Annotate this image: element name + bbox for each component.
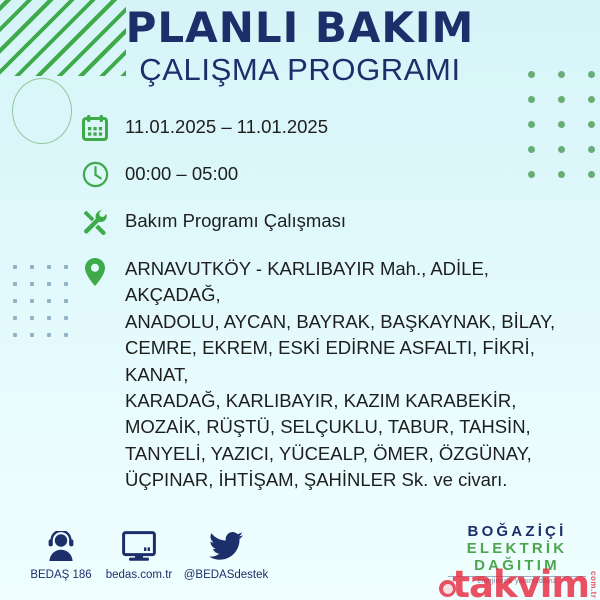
takvim-watermark: takvim com.tr bbox=[439, 568, 598, 600]
info-row-address: ARNAVUTKÖY - KARLIBAYIR Mah., ADİLE, AKÇ… bbox=[78, 255, 586, 494]
address-line: CEMRE, EKREM, ESKİ EDİRNE ASFALTI, FİKRİ… bbox=[125, 335, 586, 388]
monitor-icon bbox=[100, 526, 178, 566]
twitter-icon bbox=[178, 526, 274, 566]
info-row-work-type: Bakım Programı Çalışması bbox=[78, 208, 586, 238]
contact-website-label: bedas.com.tr bbox=[100, 569, 178, 581]
info-row-time: 00:00 – 05:00 bbox=[78, 161, 586, 191]
time-range-text: 00:00 – 05:00 bbox=[112, 161, 238, 187]
address-line: ANADOLU, AYCAN, BAYRAK, BAŞKAYNAK, BİLAY… bbox=[125, 309, 586, 335]
info-row-date: 11.01.2025 – 11.01.2025 bbox=[78, 114, 586, 144]
contact-twitter-label: @BEDASdestek bbox=[178, 569, 274, 581]
calendar-icon bbox=[78, 114, 112, 144]
contact-twitter[interactable]: @BEDASdestek bbox=[178, 526, 274, 581]
poster-footer: BEDAŞ 186 bedas.com.tr bbox=[0, 518, 600, 600]
map-pin-icon bbox=[78, 255, 112, 285]
clock-icon bbox=[78, 161, 112, 191]
address-line: ARNAVUTKÖY - KARLIBAYIR Mah., ADİLE, AKÇ… bbox=[125, 256, 586, 309]
watermark-suffix: com.tr bbox=[589, 571, 598, 598]
address-line: MOZAİK, RÜŞTÜ, SELÇUKLU, TABUR, TAHSİN, bbox=[125, 414, 586, 440]
planned-maintenance-poster: PLANLI BAKIM ÇALIŞMA PROGRAMI 11.01.2025… bbox=[0, 0, 600, 600]
contact-website[interactable]: bedas.com.tr bbox=[100, 526, 178, 581]
contact-list: BEDAŞ 186 bedas.com.tr bbox=[22, 526, 274, 581]
logo-line-2: ELEKTRİK bbox=[442, 541, 592, 558]
watermark-text: takvim bbox=[452, 568, 589, 600]
page-title: PLANLI BAKIM bbox=[0, 6, 600, 50]
date-range-text: 11.01.2025 – 11.01.2025 bbox=[112, 114, 328, 140]
address-line: TANYELİ, YAZICI, YÜCEALP, ÖMER, ÖZGÜNAY, bbox=[125, 441, 586, 467]
poster-header: PLANLI BAKIM ÇALIŞMA PROGRAMI bbox=[0, 0, 600, 88]
work-type-text: Bakım Programı Çalışması bbox=[112, 208, 346, 234]
info-list: 11.01.2025 – 11.01.2025 00:00 – 05:00 bbox=[0, 114, 600, 494]
logo-line-1: BOĞAZİÇİ bbox=[442, 524, 592, 541]
contact-phone[interactable]: BEDAŞ 186 bbox=[22, 526, 100, 581]
page-subtitle: ÇALIŞMA PROGRAMI bbox=[0, 52, 600, 88]
address-line: KARADAĞ, KARLIBAYIR, KAZIM KARABEKİR, bbox=[125, 388, 586, 414]
call-center-icon bbox=[22, 526, 100, 566]
tools-icon bbox=[78, 208, 112, 238]
contact-phone-label: BEDAŞ 186 bbox=[22, 569, 100, 581]
address-line: ÜÇPINAR, İHTİŞAM, ŞAHİNLER Sk. ve civarı… bbox=[125, 467, 586, 493]
address-text: ARNAVUTKÖY - KARLIBAYIR Mah., ADİLE, AKÇ… bbox=[112, 255, 586, 494]
